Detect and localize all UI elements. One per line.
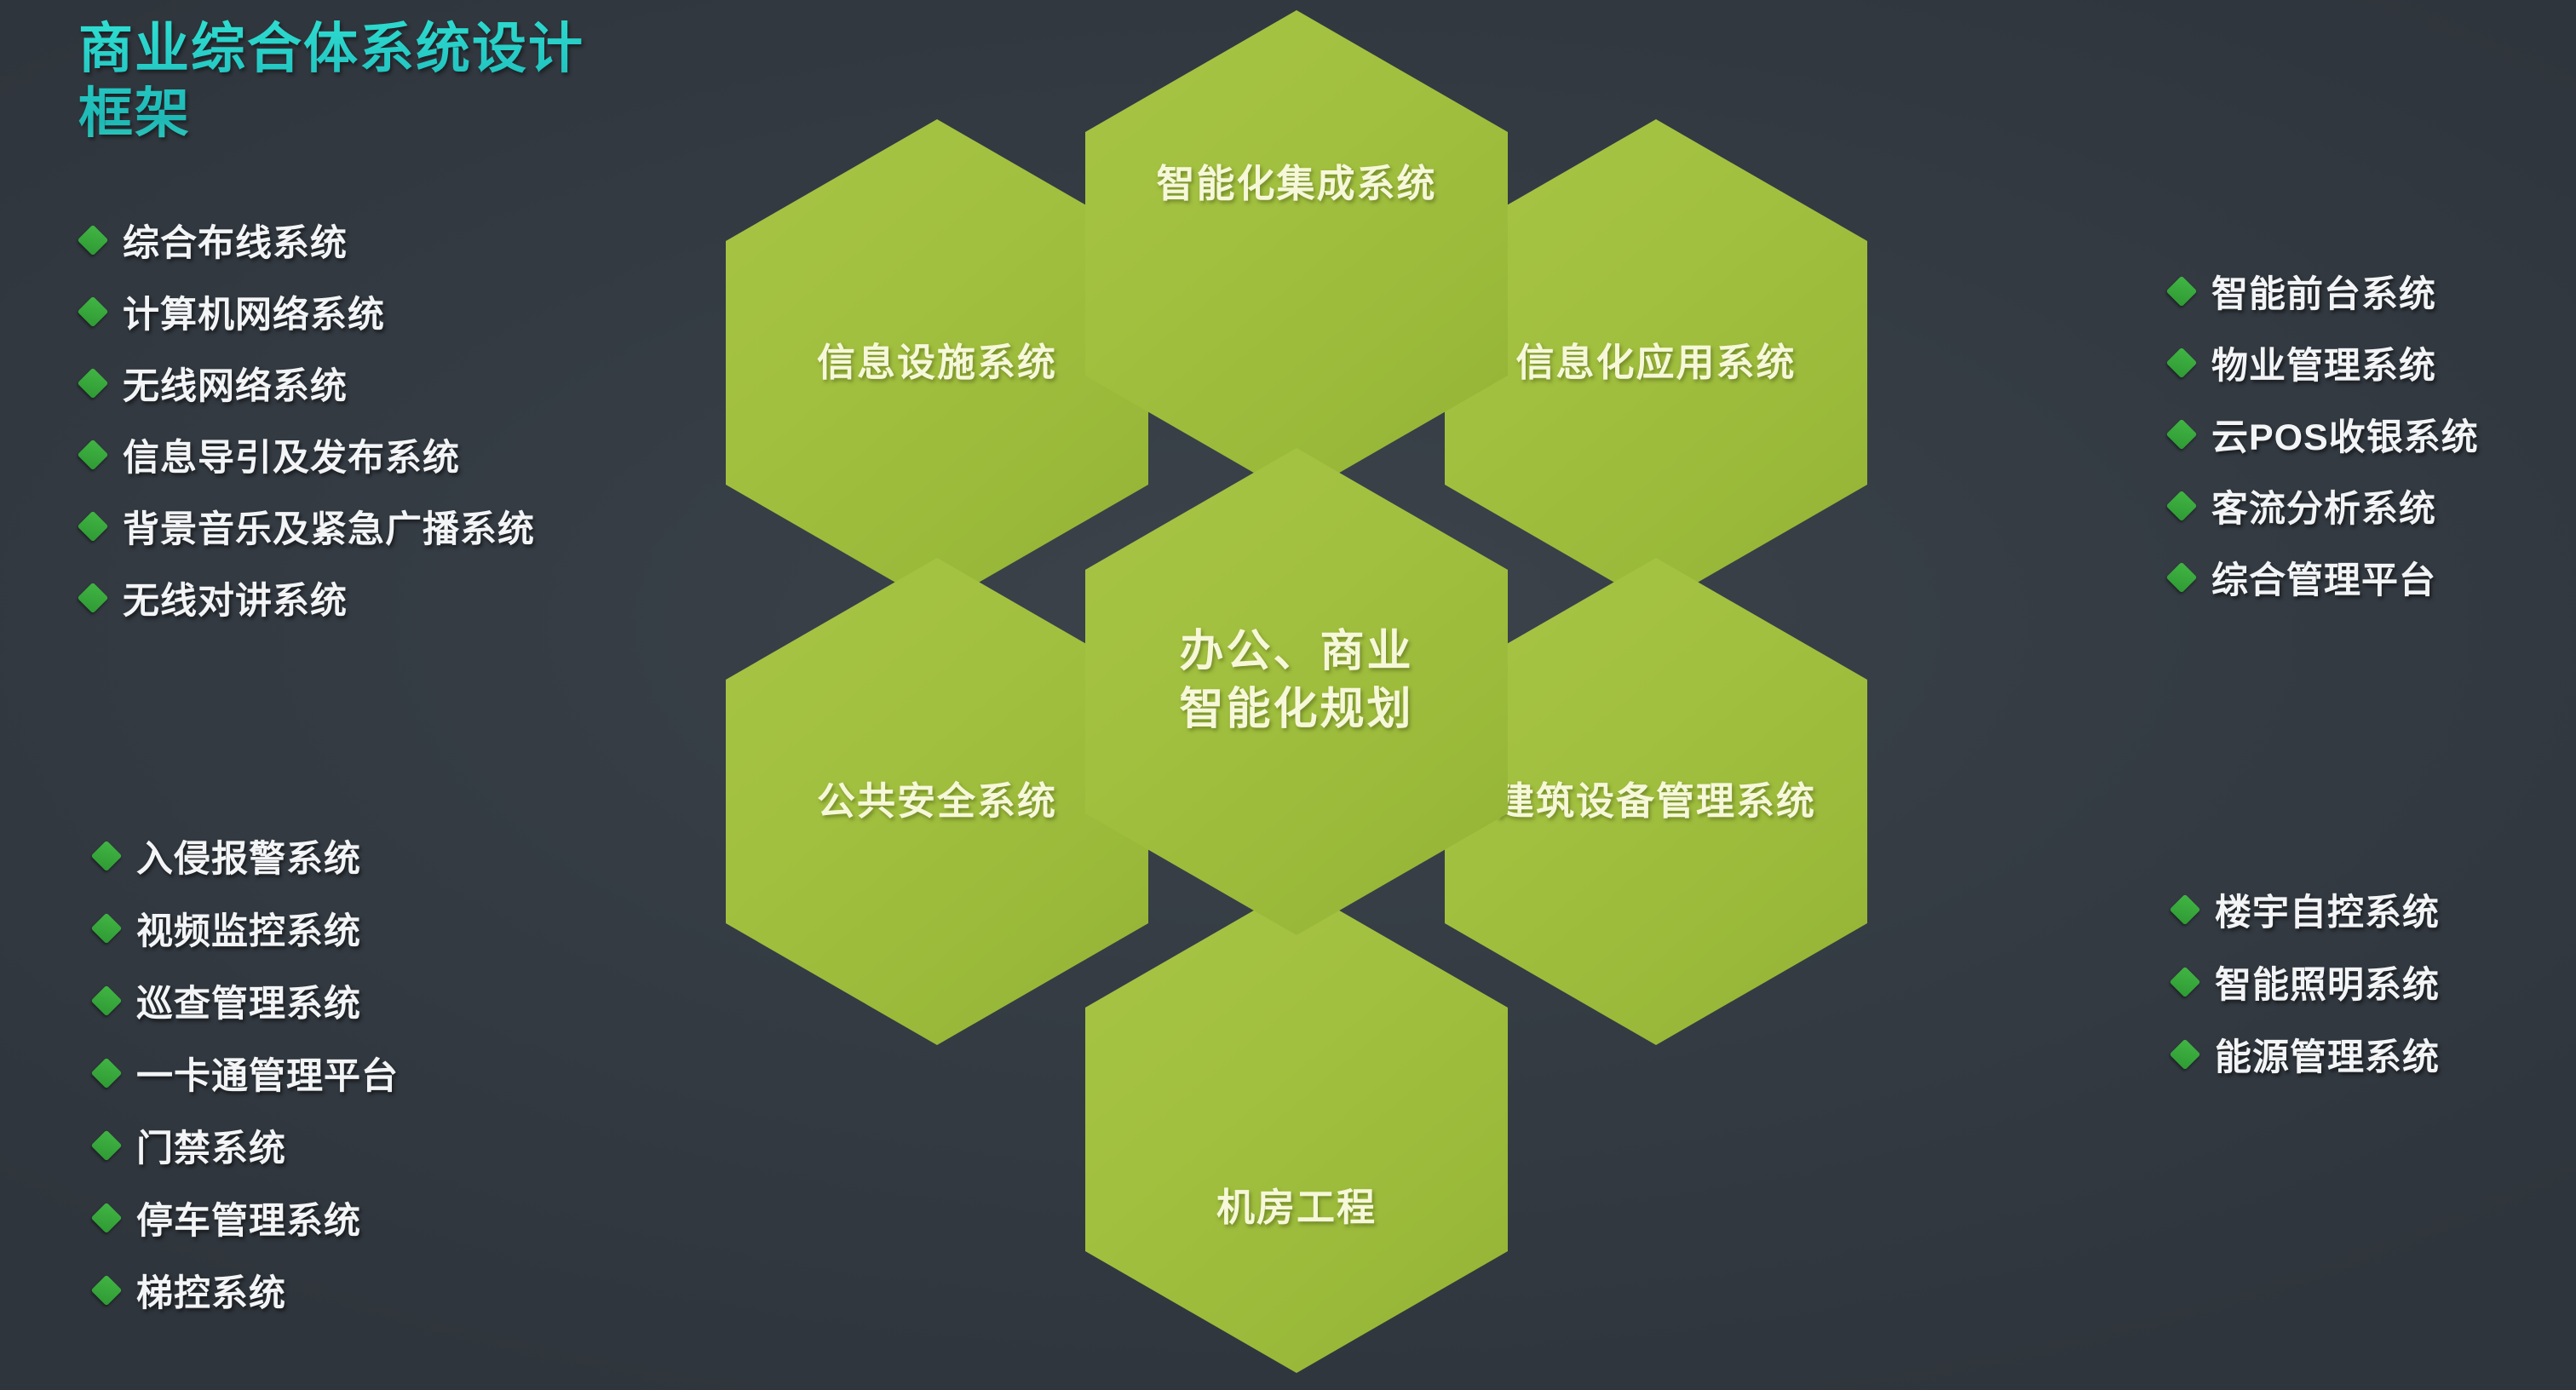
list-public-security-systems: 入侵报警系统 视频监控系统 巡查管理系统 一卡通管理平台 门禁系统 停车管理系统… bbox=[95, 819, 399, 1326]
list-item[interactable]: 入侵报警系统 bbox=[95, 819, 399, 892]
list-item-label: 无线对讲系统 bbox=[123, 572, 348, 624]
diamond-bullet-icon bbox=[2166, 562, 2198, 594]
list-item-label: 能源管理系统 bbox=[2215, 1028, 2440, 1081]
list-item-label: 视频监控系统 bbox=[136, 902, 361, 955]
list-item[interactable]: 巡查管理系统 bbox=[95, 964, 399, 1037]
list-item-label: 综合管理平台 bbox=[2211, 551, 2436, 604]
diamond-bullet-icon bbox=[78, 225, 109, 256]
diamond-bullet-icon bbox=[91, 1129, 123, 1161]
list-item-label: 梯控系统 bbox=[136, 1264, 286, 1317]
hexagon-data-center-engineering[interactable]: 机房工程 bbox=[1085, 886, 1508, 1373]
list-item[interactable]: 背景音乐及紧急广播系统 bbox=[82, 491, 535, 562]
list-item[interactable]: 综合布线系统 bbox=[82, 204, 535, 276]
list-item[interactable]: 物业管理系统 bbox=[2171, 327, 2479, 399]
diamond-bullet-icon bbox=[78, 439, 109, 471]
diamond-bullet-icon bbox=[91, 912, 123, 944]
hexagon-intelligent-integration-system[interactable]: 智能化集成系统 bbox=[1085, 10, 1508, 497]
list-item-label: 背景音乐及紧急广播系统 bbox=[123, 500, 535, 553]
list-item[interactable]: 无线网络系统 bbox=[82, 347, 535, 419]
list-item-label: 楼宇自控系统 bbox=[2215, 883, 2440, 936]
page-title-line-1: 商业综合体系统设计 bbox=[78, 17, 726, 82]
hexagon-informatization-application-system[interactable]: 信息化应用系统 bbox=[1445, 119, 1867, 606]
diamond-bullet-icon bbox=[2166, 276, 2198, 307]
hexagon-public-security-system[interactable]: 公共安全系统 bbox=[726, 558, 1148, 1045]
diamond-bullet-icon bbox=[78, 296, 109, 328]
diamond-bullet-icon bbox=[2166, 419, 2198, 451]
list-informatization-application-systems: 智能前台系统 物业管理系统 云POS收银系统 客流分析系统 综合管理平台 bbox=[2171, 256, 2479, 613]
list-item-label: 信息导引及发布系统 bbox=[123, 428, 460, 481]
hexagon-center-office-commercial-intelligent-planning[interactable]: 办公、商业 智能化规划 bbox=[1085, 448, 1508, 935]
list-item-label: 云POS收银系统 bbox=[2211, 408, 2479, 461]
page-title: 商业综合体系统设计 框架 bbox=[78, 17, 726, 146]
list-item-label: 计算机网络系统 bbox=[123, 285, 385, 338]
list-item[interactable]: 一卡通管理平台 bbox=[95, 1037, 399, 1109]
list-item-label: 无线网络系统 bbox=[123, 357, 348, 410]
list-item-label: 物业管理系统 bbox=[2211, 336, 2436, 389]
diamond-bullet-icon bbox=[2170, 1038, 2201, 1070]
list-item[interactable]: 梯控系统 bbox=[95, 1254, 399, 1326]
list-item-label: 一卡通管理平台 bbox=[136, 1047, 399, 1100]
hexagon-label: 机房工程 bbox=[1216, 1183, 1377, 1232]
hexagon-label: 信息设施系统 bbox=[817, 338, 1057, 388]
diamond-bullet-icon bbox=[2166, 491, 2198, 522]
list-item-label: 停车管理系统 bbox=[136, 1192, 361, 1244]
diamond-bullet-icon bbox=[91, 840, 123, 871]
list-item[interactable]: 综合管理平台 bbox=[2171, 542, 2479, 613]
page-title-line-2: 框架 bbox=[78, 82, 726, 146]
list-item-label: 智能照明系统 bbox=[2215, 956, 2440, 1008]
diamond-bullet-icon bbox=[2170, 893, 2201, 925]
hexagon-information-facility-system[interactable]: 信息设施系统 bbox=[726, 119, 1148, 606]
hexagon-label: 信息化应用系统 bbox=[1515, 338, 1796, 388]
list-item[interactable]: 停车管理系统 bbox=[95, 1181, 399, 1254]
hexagon-label: 办公、商业 智能化规划 bbox=[1179, 623, 1413, 738]
list-item[interactable]: 能源管理系统 bbox=[2174, 1018, 2440, 1090]
slide-canvas: 商业综合体系统设计 框架 综合布线系统 计算机网络系统 无线网络系统 信息导引及… bbox=[0, 0, 2576, 1390]
list-item[interactable]: 无线对讲系统 bbox=[82, 562, 535, 634]
list-item-label: 门禁系统 bbox=[136, 1119, 286, 1172]
list-item[interactable]: 计算机网络系统 bbox=[82, 276, 535, 347]
list-building-equipment-management-systems: 楼宇自控系统 智能照明系统 能源管理系统 bbox=[2174, 873, 2440, 1090]
list-item-label: 综合布线系统 bbox=[123, 214, 348, 267]
diamond-bullet-icon bbox=[2166, 347, 2198, 379]
list-item[interactable]: 信息导引及发布系统 bbox=[82, 419, 535, 491]
diamond-bullet-icon bbox=[78, 368, 109, 399]
diamond-bullet-icon bbox=[78, 583, 109, 614]
diamond-bullet-icon bbox=[2170, 966, 2201, 997]
list-item-label: 入侵报警系统 bbox=[136, 830, 361, 882]
diamond-bullet-icon bbox=[91, 1202, 123, 1233]
hexagon-label: 建筑设备管理系统 bbox=[1496, 777, 1816, 826]
list-item[interactable]: 客流分析系统 bbox=[2171, 470, 2479, 542]
hexagon-diagram: 信息设施系统 公共安全系统 信息化应用系统 建筑设备管理系统 智能化集成系统 机… bbox=[726, 0, 1867, 1390]
list-item[interactable]: 智能前台系统 bbox=[2171, 256, 2479, 327]
list-item-label: 智能前台系统 bbox=[2211, 265, 2436, 318]
diamond-bullet-icon bbox=[78, 511, 109, 543]
list-item[interactable]: 楼宇自控系统 bbox=[2174, 873, 2440, 945]
list-item[interactable]: 视频监控系统 bbox=[95, 892, 399, 964]
diamond-bullet-icon bbox=[91, 985, 123, 1016]
list-item[interactable]: 智能照明系统 bbox=[2174, 945, 2440, 1018]
list-item[interactable]: 云POS收银系统 bbox=[2171, 399, 2479, 470]
diamond-bullet-icon bbox=[91, 1274, 123, 1306]
diamond-bullet-icon bbox=[91, 1057, 123, 1088]
list-information-facility-systems: 综合布线系统 计算机网络系统 无线网络系统 信息导引及发布系统 背景音乐及紧急广… bbox=[82, 204, 535, 634]
hexagon-label: 公共安全系统 bbox=[817, 777, 1057, 826]
list-item[interactable]: 门禁系统 bbox=[95, 1109, 399, 1181]
list-item-label: 巡查管理系统 bbox=[136, 974, 361, 1027]
list-item-label: 客流分析系统 bbox=[2211, 480, 2436, 532]
hexagon-label: 智能化集成系统 bbox=[1156, 159, 1436, 209]
hexagon-building-equipment-management-system[interactable]: 建筑设备管理系统 bbox=[1445, 558, 1867, 1045]
